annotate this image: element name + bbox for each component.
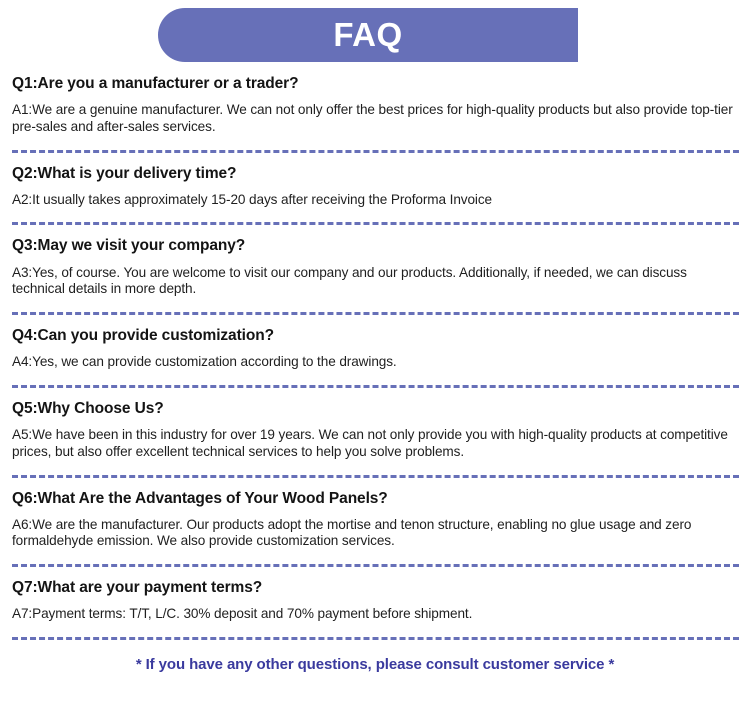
customer-service-note: * If you have any other questions, pleas… <box>0 656 750 673</box>
faq-question: Q5:Why Choose Us? <box>12 399 740 418</box>
faq-item: Q4:Can you provide customization? A4:Yes… <box>12 326 740 376</box>
faq-answer: A5:We have been in this industry for ove… <box>12 427 740 460</box>
faq-question: Q3:May we visit your company? <box>12 236 740 255</box>
faq-answer: A1:We are a genuine manufacturer. We can… <box>12 102 740 135</box>
faq-item: Q1:Are you a manufacturer or a trader? A… <box>12 74 740 141</box>
faq-question: Q7:What are your payment terms? <box>12 578 740 597</box>
faq-question: Q2:What is your delivery time? <box>12 164 740 183</box>
faq-divider <box>12 475 739 478</box>
faq-question: Q4:Can you provide customization? <box>12 326 740 345</box>
faq-answer: A2:It usually takes approximately 15-20 … <box>12 192 740 209</box>
faq-divider <box>12 312 739 315</box>
faq-item: Q6:What Are the Advantages of Your Wood … <box>12 489 740 556</box>
faq-divider <box>12 637 739 640</box>
faq-divider <box>12 222 739 225</box>
faq-item: Q7:What are your payment terms? A7:Payme… <box>12 578 740 628</box>
faq-divider <box>12 150 739 153</box>
faq-list: Q1:Are you a manufacturer or a trader? A… <box>0 74 750 640</box>
faq-banner: FAQ <box>158 8 578 62</box>
faq-item: Q2:What is your delivery time? A2:It usu… <box>12 164 740 214</box>
faq-answer: A3:Yes, of course. You are welcome to vi… <box>12 265 740 298</box>
faq-page: FAQ Q1:Are you a manufacturer or a trade… <box>0 0 750 721</box>
faq-item: Q3:May we visit your company? A3:Yes, of… <box>12 236 740 303</box>
faq-question: Q1:Are you a manufacturer or a trader? <box>12 74 740 93</box>
faq-divider <box>12 385 739 388</box>
faq-banner-title: FAQ <box>333 18 402 53</box>
faq-question: Q6:What Are the Advantages of Your Wood … <box>12 489 740 508</box>
faq-answer: A4:Yes, we can provide customization acc… <box>12 354 740 371</box>
faq-answer: A6:We are the manufacturer. Our products… <box>12 517 740 550</box>
faq-banner-container: FAQ <box>0 0 750 62</box>
faq-divider <box>12 564 739 567</box>
faq-item: Q5:Why Choose Us? A5:We have been in thi… <box>12 399 740 466</box>
faq-answer: A7:Payment terms: T/T, L/C. 30% deposit … <box>12 606 740 623</box>
